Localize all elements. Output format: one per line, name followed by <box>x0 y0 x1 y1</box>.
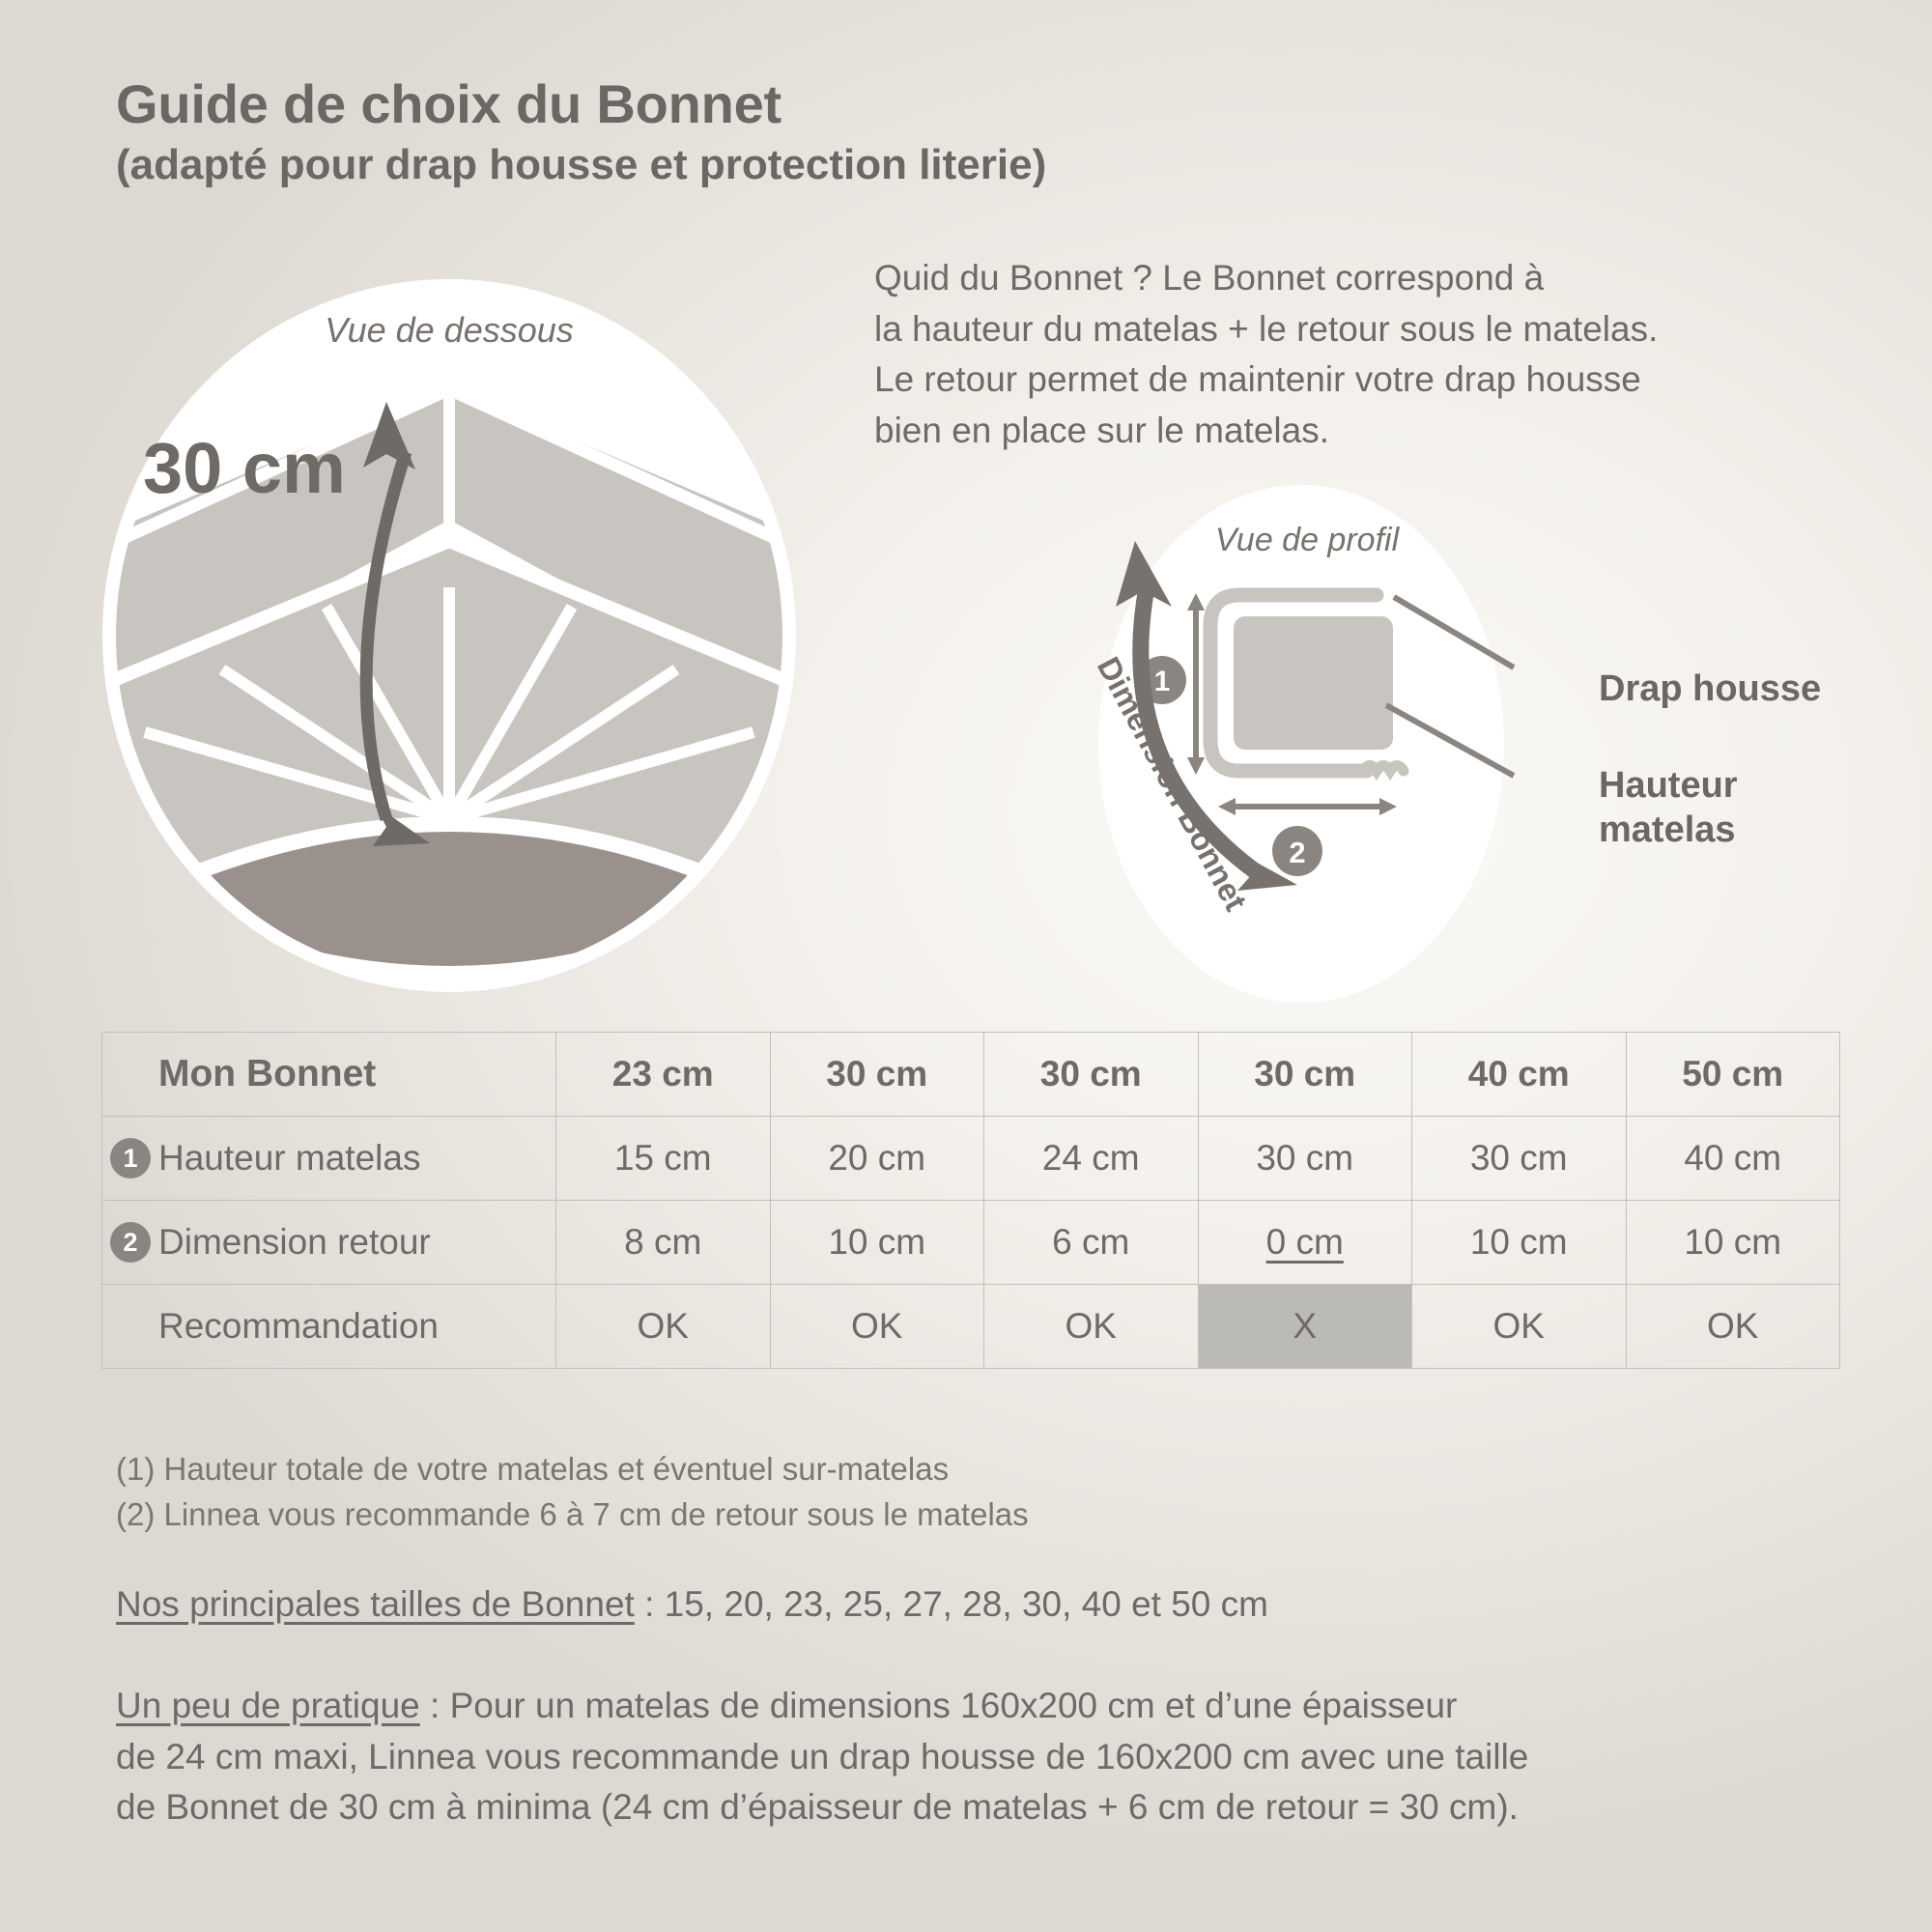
sizes-line: Nos principales tailles de Bonnet : 15, … <box>116 1584 1268 1625</box>
elastic-squiggle-icon <box>1363 766 1404 772</box>
table-header-cell: 30 cm <box>1198 1033 1412 1117</box>
table-header-cell: 30 cm <box>984 1033 1199 1117</box>
bonnet-table: Mon Bonnet 23 cm 30 cm 30 cm 30 cm 40 cm… <box>101 1032 1840 1369</box>
table-cell: OK <box>1412 1285 1627 1369</box>
intro-line-4: bien en place sur le matelas. <box>874 406 1860 457</box>
table-cell: 10 cm <box>770 1201 984 1285</box>
row-label-hauteur-matelas: 1 Hauteur matelas <box>102 1117 556 1201</box>
footnote-2: (2) Linnea vous recommande 6 à 7 cm de r… <box>116 1492 1029 1538</box>
footnotes-block: (1) Hauteur totale de votre matelas et é… <box>116 1447 1029 1538</box>
table-header-cell: 50 cm <box>1626 1033 1840 1117</box>
practice-line-1-rest: : Pour un matelas de dimensions 160x200 … <box>420 1686 1458 1725</box>
practice-line-2: de 24 cm maxi, Linnea vous recommande un… <box>116 1732 1855 1783</box>
intro-line-3: Le retour permet de maintenir votre drap… <box>874 355 1860 406</box>
table-cell: 0 cm <box>1198 1201 1412 1285</box>
callout-hauteur-line-2: matelas <box>1599 808 1738 852</box>
bottom-view-label: Vue de dessous <box>325 310 574 350</box>
table-header-label: Mon Bonnet <box>102 1033 556 1117</box>
table-cell: OK <box>770 1285 984 1369</box>
table-cell-not-recommended: X <box>1198 1285 1412 1369</box>
table-header-cell: 30 cm <box>770 1033 984 1117</box>
profile-view-label: Vue de profil <box>1215 522 1401 558</box>
table-row: 2 Dimension retour 8 cm 10 cm 6 cm 0 cm … <box>102 1201 1840 1285</box>
infographic-page: Guide de choix du Bonnet (adapté pour dr… <box>0 0 1932 1932</box>
table-cell-underlined: 0 cm <box>1266 1222 1344 1262</box>
row-label-dimension-retour: 2 Dimension retour <box>102 1201 556 1285</box>
bottom-view-diagram: Vue de dessous 30 cm <box>97 278 802 993</box>
badge-2-label: 2 <box>1289 836 1305 869</box>
profile-view-diagram: 1 2 Vue de profil Dimension Bonnet <box>1087 481 1550 1008</box>
intro-paragraph: Quid du Bonnet ? Le Bonnet correspond à … <box>874 253 1860 456</box>
badge-1-icon: 1 <box>110 1138 151 1179</box>
table-row: 1 Hauteur matelas 15 cm 20 cm 24 cm 30 c… <box>102 1117 1840 1201</box>
practice-line-1: Un peu de pratique : Pour un matelas de … <box>116 1681 1855 1732</box>
table-cell: 30 cm <box>1198 1117 1412 1201</box>
practice-line-3: de Bonnet de 30 cm à minima (24 cm d’épa… <box>116 1782 1855 1833</box>
table-cell: OK <box>556 1285 771 1369</box>
callout-hauteur-line-1: Hauteur <box>1599 763 1738 808</box>
table-cell: 30 cm <box>1412 1117 1627 1201</box>
table-cell: OK <box>1626 1285 1840 1369</box>
intro-line-1: Quid du Bonnet ? Le Bonnet correspond à <box>874 253 1860 304</box>
bottom-view-measure-label: 30 cm <box>143 428 346 508</box>
table-header-cell: 40 cm <box>1412 1033 1627 1117</box>
row-label-recommandation: Recommandation <box>102 1285 556 1369</box>
table-cell: 15 cm <box>556 1117 771 1201</box>
header-block: Guide de choix du Bonnet (adapté pour dr… <box>116 75 1372 189</box>
badge-1-label: 1 <box>1154 666 1171 697</box>
intro-line-2: la hauteur du matelas + le retour sous l… <box>874 304 1860 355</box>
page-subtitle: (adapté pour drap housse et protection l… <box>116 141 1372 188</box>
practice-block: Un peu de pratique : Pour un matelas de … <box>116 1681 1855 1833</box>
table-cell: 10 cm <box>1412 1201 1627 1285</box>
table-cell: 10 cm <box>1626 1201 1840 1285</box>
table-cell: OK <box>984 1285 1199 1369</box>
table-cell: 8 cm <box>556 1201 771 1285</box>
row-label-text: Dimension retour <box>158 1222 431 1262</box>
bonnet-table-wrap: Mon Bonnet 23 cm 30 cm 30 cm 30 cm 40 cm… <box>101 1032 1840 1369</box>
table-cell: 40 cm <box>1626 1117 1840 1201</box>
callout-drap-housse: Drap housse <box>1599 667 1821 711</box>
footnote-1: (1) Hauteur totale de votre matelas et é… <box>116 1447 1029 1492</box>
table-row: Recommandation OK OK OK X OK OK <box>102 1285 1840 1369</box>
row-label-text: Hauteur matelas <box>158 1138 420 1178</box>
sizes-label: Nos principales tailles de Bonnet <box>116 1584 635 1624</box>
table-cell: 6 cm <box>984 1201 1199 1285</box>
sizes-values: : 15, 20, 23, 25, 27, 28, 30, 40 et 50 c… <box>635 1584 1268 1624</box>
row-label-text: Recommandation <box>158 1306 439 1346</box>
table-cell: 20 cm <box>770 1117 984 1201</box>
mattress-block <box>1234 616 1393 750</box>
badge-2-icon: 2 <box>110 1222 151 1263</box>
page-title: Guide de choix du Bonnet <box>116 75 1372 133</box>
table-header-cell: 23 cm <box>556 1033 771 1117</box>
practice-label: Un peu de pratique <box>116 1686 420 1725</box>
callout-drap-housse-label: Drap housse <box>1599 668 1821 709</box>
callout-hauteur-matelas: Hauteur matelas <box>1599 763 1738 853</box>
table-header-row: Mon Bonnet 23 cm 30 cm 30 cm 30 cm 40 cm… <box>102 1033 1840 1117</box>
table-cell: 24 cm <box>984 1117 1199 1201</box>
